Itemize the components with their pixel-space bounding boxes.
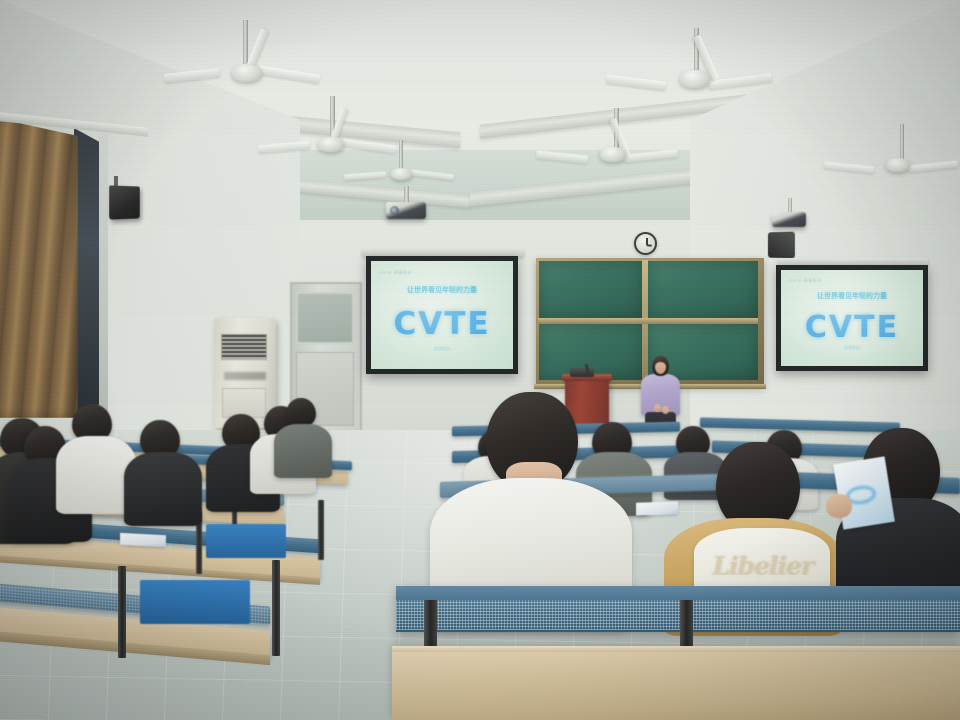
wall-speaker-icon [109, 185, 140, 219]
slide-logo: CVTE [781, 310, 923, 345]
handout-paper [636, 501, 678, 515]
bench-leg [424, 600, 437, 652]
projector-lens-icon [390, 206, 399, 215]
slide-corner-tag: CVTE 视源股份 [790, 278, 822, 284]
shirt-text: Libelier [700, 548, 826, 584]
bench-leg [680, 600, 693, 652]
slide-subtext: 视源股份 [781, 345, 923, 351]
handout-paper [120, 533, 166, 547]
projection-screen-left: CVTE 视源股份 让世界看见年轻的力量 CVTE 视源股份 [366, 256, 518, 374]
classroom-photo: CVTE 视源股份 让世界看见年轻的力量 CVTE 视源股份 CVTE 视源股份… [0, 0, 960, 720]
desk-edge [392, 646, 960, 652]
student-torso [274, 424, 332, 478]
ceiling-fan [866, 156, 928, 176]
curtain [0, 118, 78, 418]
desk-leg [118, 566, 126, 658]
screen-surface: CVTE 视源股份 让世界看见年轻的力量 CVTE 视源股份 [781, 270, 923, 366]
screen-surface: CVTE 视源股份 让世界看见年轻的力量 CVTE 视源股份 [371, 261, 513, 369]
wall-clock-icon [634, 232, 657, 255]
desk-leg [318, 500, 324, 560]
slide-logo: CVTE [371, 306, 513, 342]
projection-screen-right: CVTE 视源股份 让世界看见年轻的力量 CVTE 视源股份 [776, 265, 928, 371]
student-head [716, 442, 800, 530]
window-frame [99, 134, 108, 414]
wall-speaker-icon [768, 232, 795, 259]
ceiling-fan [376, 166, 426, 184]
presenter-hand [654, 404, 661, 412]
lectern-equipment [570, 368, 594, 377]
bench-seat [206, 524, 286, 558]
student-hand [826, 494, 852, 518]
student-head [286, 398, 316, 427]
ceiling-fan [300, 134, 362, 156]
bench-seat [140, 580, 250, 624]
fan-rod [243, 20, 248, 64]
ceiling-fan [210, 60, 282, 86]
student-desk [392, 646, 960, 720]
slide-headline: 让世界看见年轻的力量 [371, 285, 513, 295]
door-window [296, 292, 354, 344]
bench-mesh [396, 600, 960, 630]
blackboard [536, 258, 764, 386]
presenter-hand [662, 406, 669, 414]
ceiling-fan [580, 144, 644, 166]
student-torso [124, 452, 202, 526]
fan-rod [900, 124, 904, 160]
ac-vent-grill [221, 334, 267, 360]
slide-subtext: 视源股份 [371, 346, 513, 352]
ac-brand-logo [224, 372, 266, 380]
ceiling-projector [772, 212, 806, 227]
desk-leg [272, 560, 280, 656]
slide-headline: 让世界看见年轻的力量 [781, 291, 923, 301]
slide-corner-tag: CVTE 视源股份 [380, 270, 412, 276]
ceiling-fan [656, 66, 732, 92]
